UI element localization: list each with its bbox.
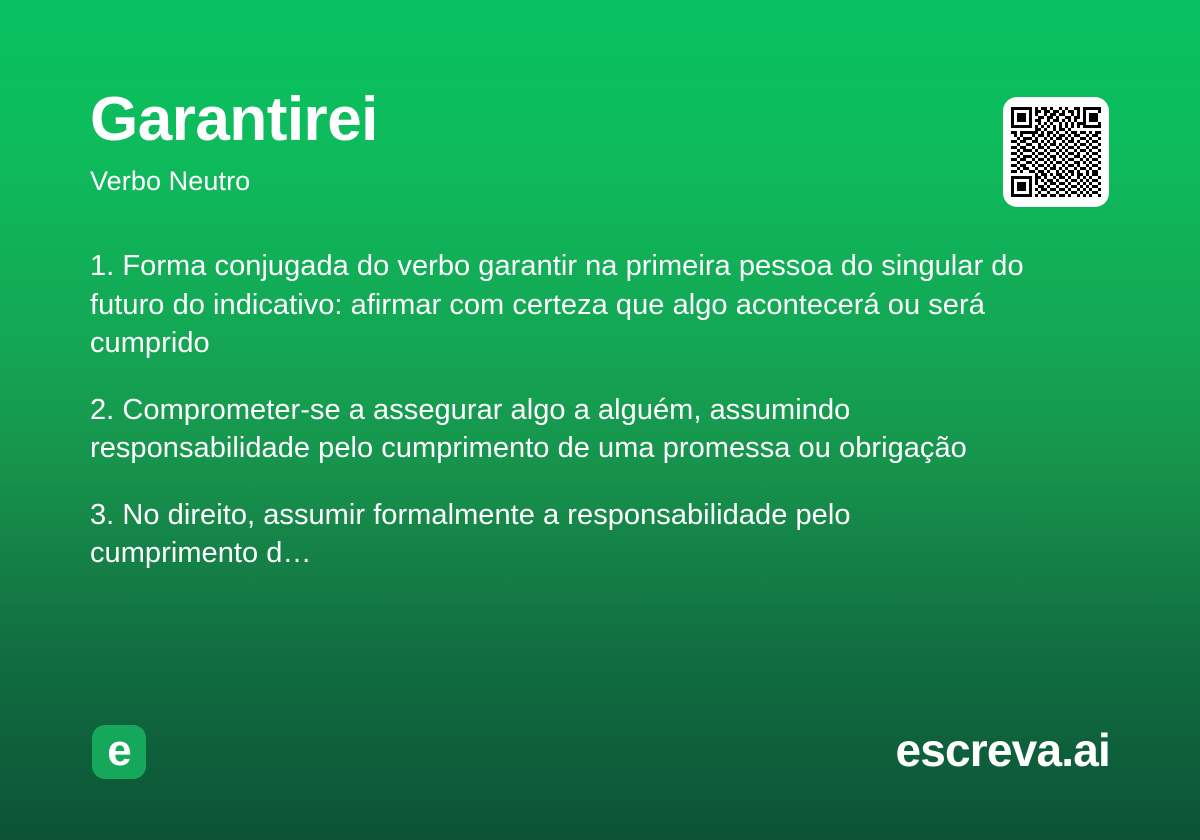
brand-wordmark: escreva.ai (895, 724, 1110, 776)
share-card: Garantirei Verbo Neutro 1. Forma conjuga… (0, 0, 1200, 840)
app-logo-letter: e (107, 729, 130, 773)
definition-list: 1. Forma conjugada do verbo garantir na … (90, 247, 1070, 573)
page-title: Garantirei (90, 86, 970, 154)
definition-item: 1. Forma conjugada do verbo garantir na … (90, 247, 1045, 363)
word-class-label: Verbo Neutro (90, 164, 970, 198)
card-header: Garantirei Verbo Neutro (90, 86, 970, 198)
app-logo: e (92, 725, 146, 779)
qr-code-card[interactable] (1003, 97, 1109, 207)
definition-item: 3. No direito, assumir formalmente a res… (90, 496, 1025, 573)
qr-code-icon (1011, 107, 1101, 197)
definition-item: 2. Comprometer-se a assegurar algo a alg… (90, 391, 1020, 468)
